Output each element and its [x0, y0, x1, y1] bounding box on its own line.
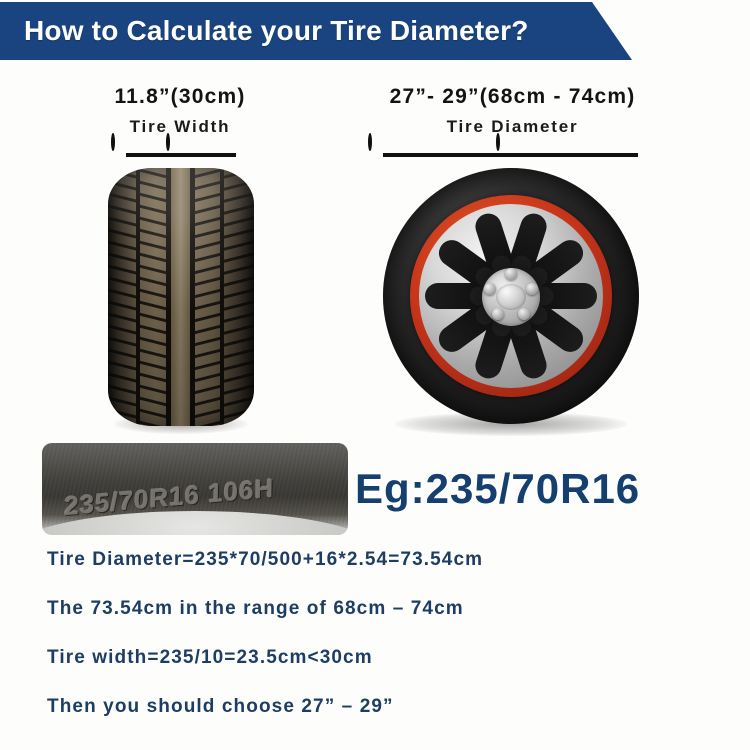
- wheel-center-cap: [496, 284, 526, 310]
- tread-gloss-overlay: [108, 168, 254, 426]
- dimension-line: [383, 153, 638, 157]
- calculation-line-3: Tire width=235/10=23.5cm<30cm: [47, 646, 737, 695]
- dimension-endcap-left: [111, 133, 115, 151]
- tire-width-measurement: 11.8”(30cm) Tire Width: [55, 86, 305, 135]
- dimension-endcap-left: [368, 133, 372, 151]
- wheel-lug-nut: [492, 308, 504, 320]
- tire-sidewall-photo: 235/70R16 106H: [42, 443, 348, 535]
- tire-width-caption: Tire Width: [55, 118, 305, 135]
- calculation-list: Tire Diameter=235*70/500+16*2.54=73.54cm…: [47, 548, 737, 744]
- calculation-line-4: Then you should choose 27” – 29”: [47, 695, 737, 744]
- calculation-line-1: Tire Diameter=235*70/500+16*2.54=73.54cm: [47, 548, 737, 597]
- tire-width-value: 11.8”(30cm): [55, 86, 305, 107]
- tire-diameter-dimension-bar: [383, 146, 638, 164]
- dimension-endcap-right: [496, 133, 500, 151]
- calculation-line-2: The 73.54cm in the range of 68cm – 74cm: [47, 597, 737, 646]
- dimension-line: [126, 153, 236, 157]
- example-tire-size-label: Eg:235/70R16: [355, 468, 640, 510]
- header-banner: How to Calculate your Tire Diameter?: [0, 2, 632, 60]
- tire-diameter-value: 27”- 29”(68cm - 74cm): [340, 86, 685, 107]
- tire-tread-body: [108, 168, 254, 426]
- tire-width-dimension-bar: [126, 146, 236, 164]
- page-title: How to Calculate your Tire Diameter?: [24, 15, 529, 47]
- tire-diameter-caption: Tire Diameter: [340, 118, 685, 135]
- wheel-lug-nut: [518, 308, 530, 320]
- dimension-endcap-right: [166, 133, 170, 151]
- tire-tread-illustration: [108, 168, 254, 426]
- wheel-lug-nut: [505, 268, 517, 280]
- alloy-wheel-illustration: [383, 168, 639, 426]
- tire-diameter-measurement: 27”- 29”(68cm - 74cm) Tire Diameter: [340, 86, 685, 135]
